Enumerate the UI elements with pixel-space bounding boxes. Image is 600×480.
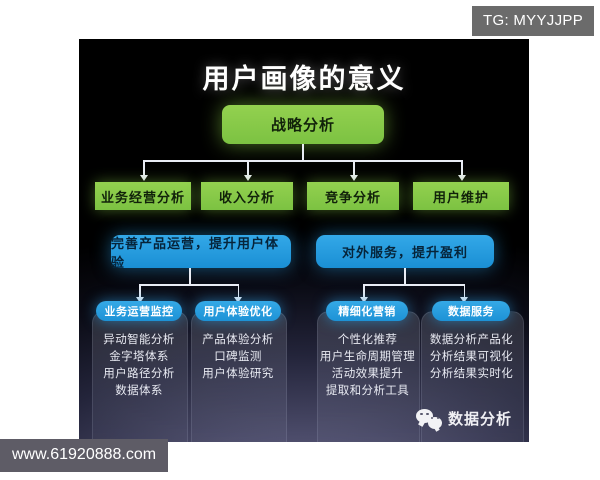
connector-blue2-drop-2 [464,284,466,298]
connector-blue2-bus [363,284,465,286]
node-improve-product-operation[interactable]: 完善产品运营，提升用户体验 [111,235,291,268]
list-item: 用户体验研究 [191,365,285,382]
connector-drop-4 [461,160,463,176]
slide-title: 用户画像的意义 [79,57,529,96]
connector-drop-2 [247,160,249,176]
node-competition-analysis[interactable]: 竞争分析 [307,182,399,210]
panel-header-ux-optimization[interactable]: 用户体验优化 [195,301,281,321]
arrow-icon-2 [244,175,252,181]
connector-drop-3 [353,160,355,176]
tg-badge: TG: MYYJJPP [472,6,594,36]
list-item: 异动智能分析 [92,331,186,348]
connector-blue1-bus [139,284,239,286]
list-item: 个性化推荐 [315,331,420,348]
wechat-brand-name: 数据分析 [448,408,512,429]
panel-header-business-monitoring[interactable]: 业务运营监控 [96,301,182,321]
node-root-strategy[interactable]: 战略分析 [222,105,384,144]
wechat-brand: 数据分析 [416,408,512,429]
connector-root-bus [143,160,462,162]
panel-list-business-monitoring: 异动智能分析 金字塔体系 用户路径分析 数据体系 [92,331,186,399]
node-business-operation-analysis[interactable]: 业务经营分析 [95,182,191,210]
connector-blue1-drop-2 [238,284,240,298]
panel-list-refined-marketing: 个性化推荐 用户生命周期管理 活动效果提升 提取和分析工具 [315,331,420,399]
site-watermark: www.61920888.com [0,439,168,472]
panel-list-data-service: 数据分析产品化 分析结果可视化 分析结果实时化 [419,331,524,382]
panel-header-refined-marketing[interactable]: 精细化营销 [326,301,408,321]
list-item: 提取和分析工具 [315,382,420,399]
connector-blue2-drop-1 [363,284,365,298]
list-item: 金字塔体系 [92,348,186,365]
list-item: 活动效果提升 [315,365,420,382]
list-item: 分析结果可视化 [419,348,524,365]
list-item: 用户生命周期管理 [315,348,420,365]
list-item: 分析结果实时化 [419,365,524,382]
node-revenue-analysis[interactable]: 收入分析 [201,182,293,210]
arrow-icon-3 [350,175,358,181]
connector-root-stem [302,144,304,160]
list-item: 口碑监测 [191,348,285,365]
arrow-icon-4 [458,175,466,181]
list-item: 数据分析产品化 [419,331,524,348]
panel-list-ux-optimization: 产品体验分析 口碑监测 用户体验研究 [191,331,285,382]
slide-canvas: 用户画像的意义 战略分析 业务经营分析 收入分析 竞争分析 用户维护 完善产品运… [79,39,529,442]
connector-blue1-drop-1 [139,284,141,298]
node-user-retention[interactable]: 用户维护 [413,182,509,210]
panel-header-data-service[interactable]: 数据服务 [432,301,510,321]
list-item: 产品体验分析 [191,331,285,348]
node-external-service-profit[interactable]: 对外服务，提升盈利 [316,235,494,268]
wechat-icon [416,409,442,429]
connector-blue1-stem [189,268,191,284]
list-item: 用户路径分析 [92,365,186,382]
connector-blue2-stem [404,268,406,284]
arrow-icon-1 [140,175,148,181]
list-item: 数据体系 [92,382,186,399]
connector-drop-1 [143,160,145,176]
